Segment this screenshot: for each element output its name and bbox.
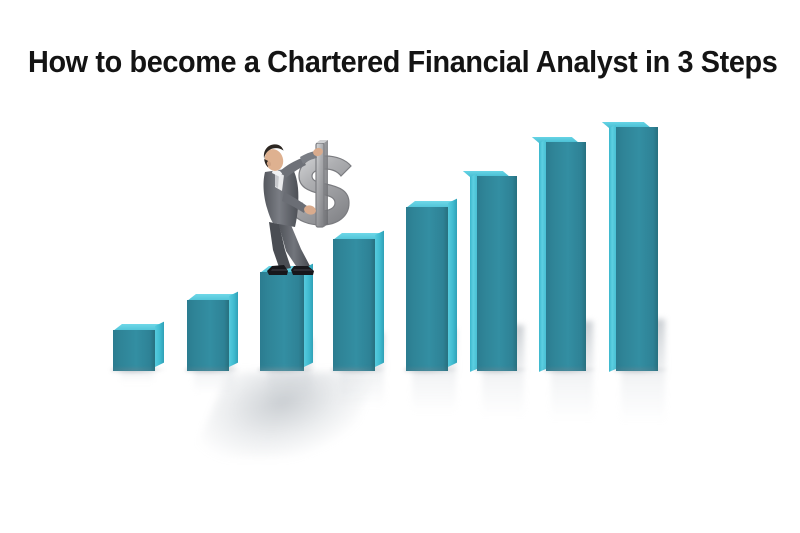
chart-bar-5 bbox=[406, 207, 448, 371]
businessman-figure bbox=[232, 138, 360, 282]
bar-front-face bbox=[260, 272, 304, 371]
businessman-floor-shadow bbox=[193, 372, 378, 458]
chart-bar-6 bbox=[477, 176, 517, 371]
bar-front-face bbox=[546, 142, 586, 371]
bar-contact-shadow bbox=[404, 368, 458, 374]
bar-chart bbox=[0, 0, 800, 533]
bar-contact-shadow bbox=[258, 368, 314, 374]
chart-bar-2 bbox=[187, 300, 229, 371]
bar-side-face bbox=[229, 292, 238, 367]
bar-front-face bbox=[477, 176, 517, 371]
bar-side-face bbox=[470, 174, 477, 372]
bar-contact-shadow bbox=[475, 368, 527, 374]
bar-side-face bbox=[609, 125, 616, 372]
bar-front-face bbox=[616, 127, 658, 371]
bar-contact-shadow bbox=[331, 368, 385, 374]
bar-contact-shadow bbox=[185, 368, 239, 374]
bar-side-face bbox=[375, 231, 384, 367]
bar-front-face bbox=[113, 330, 155, 371]
bar-side-face bbox=[539, 140, 546, 372]
bar-contact-shadow bbox=[111, 368, 165, 374]
bar-contact-shadow bbox=[544, 368, 596, 374]
chart-bar-8 bbox=[616, 127, 658, 371]
chart-bar-1 bbox=[113, 330, 155, 371]
chart-bar-7 bbox=[546, 142, 586, 371]
illustration-canvas: How to become a Chartered Financial Anal… bbox=[0, 0, 800, 533]
chart-bar-3 bbox=[260, 272, 304, 371]
bar-contact-shadow bbox=[614, 368, 668, 374]
bar-front-face bbox=[406, 207, 448, 371]
bar-side-face bbox=[448, 199, 457, 367]
bar-front-face bbox=[187, 300, 229, 371]
bar-side-face bbox=[155, 322, 164, 367]
